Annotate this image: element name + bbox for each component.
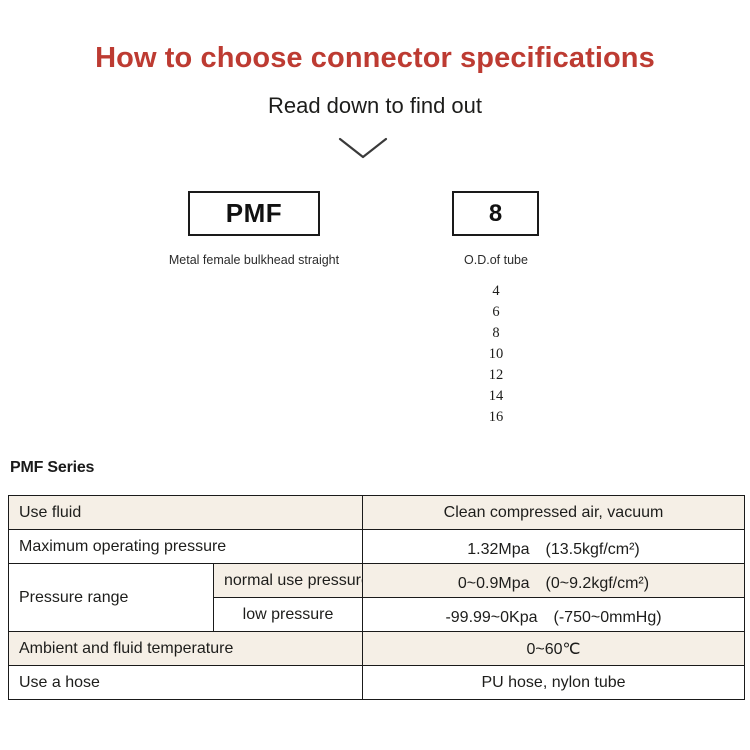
list-item[interactable]: 10 xyxy=(440,344,552,365)
table-cell-label: Ambient and fluid temperature xyxy=(9,632,363,666)
list-item[interactable]: 12 xyxy=(440,365,552,386)
page-subtitle: Read down to find out xyxy=(0,93,750,119)
series-code-box[interactable]: PMF xyxy=(188,191,320,236)
table-row: Use fluid Clean compressed air, vacuum xyxy=(9,496,745,530)
table-cell-value: PU hose, nylon tube xyxy=(363,666,745,700)
list-item[interactable]: 16 xyxy=(440,407,552,428)
table-cell-value: 0~60℃ xyxy=(363,632,745,666)
list-item[interactable]: 4 xyxy=(440,281,552,302)
table-cell-label: Maximum operating pressure xyxy=(9,530,363,564)
spec-table-heading: PMF Series xyxy=(10,459,94,477)
table-row: Use a hose PU hose, nylon tube xyxy=(9,666,745,700)
chevron-down-icon xyxy=(338,136,388,162)
page-title: How to choose connector specifications xyxy=(0,42,750,75)
table-cell-label: Use a hose xyxy=(9,666,363,700)
table-cell-value: -99.99~0Kpa (-750~0mmHg) xyxy=(363,598,745,632)
table-cell-sublabel: low pressure xyxy=(214,598,363,632)
table-row: Pressure range normal use pressure 0~0.9… xyxy=(9,564,745,598)
list-item[interactable]: 6 xyxy=(440,302,552,323)
table-row: Maximum operating pressure 1.32Mpa (13.5… xyxy=(9,530,745,564)
table-cell-value: 1.32Mpa (13.5kgf/cm²) xyxy=(363,530,745,564)
list-item[interactable]: 8 xyxy=(440,323,552,344)
spec-table: Use fluid Clean compressed air, vacuum M… xyxy=(8,495,745,700)
table-row: Ambient and fluid temperature 0~60℃ xyxy=(9,632,745,666)
size-code-box[interactable]: 8 xyxy=(452,191,539,236)
size-option-list: 4 6 8 10 12 14 16 xyxy=(440,281,552,428)
series-code-caption: Metal female bulkhead straight xyxy=(158,253,350,267)
size-code-caption: O.D.of tube xyxy=(440,253,552,267)
list-item[interactable]: 14 xyxy=(440,386,552,407)
table-cell-sublabel: normal use pressure xyxy=(214,564,363,598)
table-cell-value: Clean compressed air, vacuum xyxy=(363,496,745,530)
table-cell-label: Pressure range xyxy=(9,564,214,632)
table-cell-label: Use fluid xyxy=(9,496,363,530)
spec-table-wrapper: Use fluid Clean compressed air, vacuum M… xyxy=(8,495,744,700)
table-cell-value: 0~0.9Mpa (0~9.2kgf/cm²) xyxy=(363,564,745,598)
